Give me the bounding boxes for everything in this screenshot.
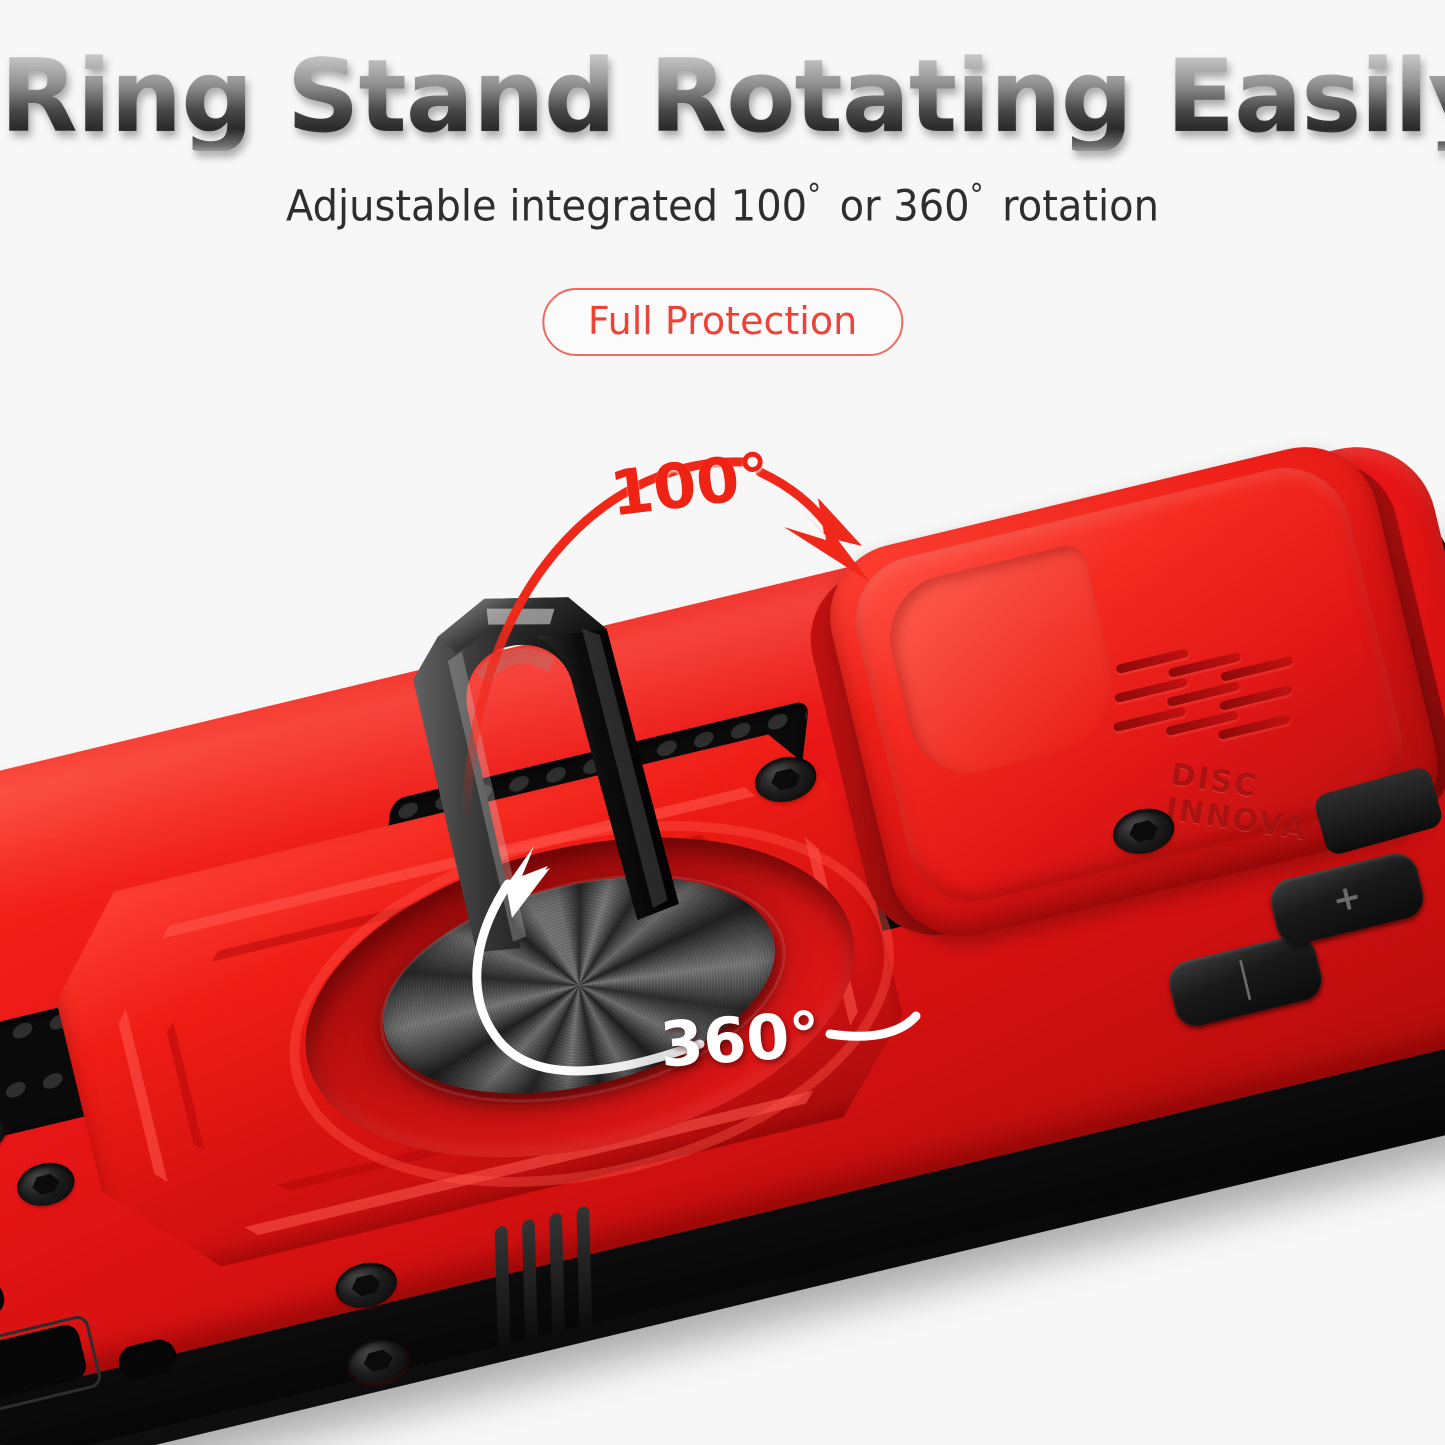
- page-subtitle: Adjustable integrated 100°or 360°rotatio…: [51, 178, 1395, 231]
- full-protection-badge: Full Protection: [542, 288, 903, 356]
- degree-icon-1: °: [807, 178, 821, 213]
- label-100-degrees: 100°: [606, 438, 774, 530]
- product-marketing-image: Ring Stand Rotating Easily Adjustable in…: [0, 0, 1445, 1445]
- label-360-degrees: 360°: [658, 997, 823, 1081]
- page-title: Ring Stand Rotating Easily: [0, 42, 1445, 151]
- phone-case-product: DISC INNOVA │ +: [0, 410, 1445, 1445]
- subtitle-part-1: Adjustable integrated 100: [286, 181, 807, 231]
- subtitle-part-2: or 360: [840, 181, 970, 231]
- degree-icon-2: °: [970, 178, 984, 213]
- subtitle-part-3: rotation: [1002, 181, 1159, 231]
